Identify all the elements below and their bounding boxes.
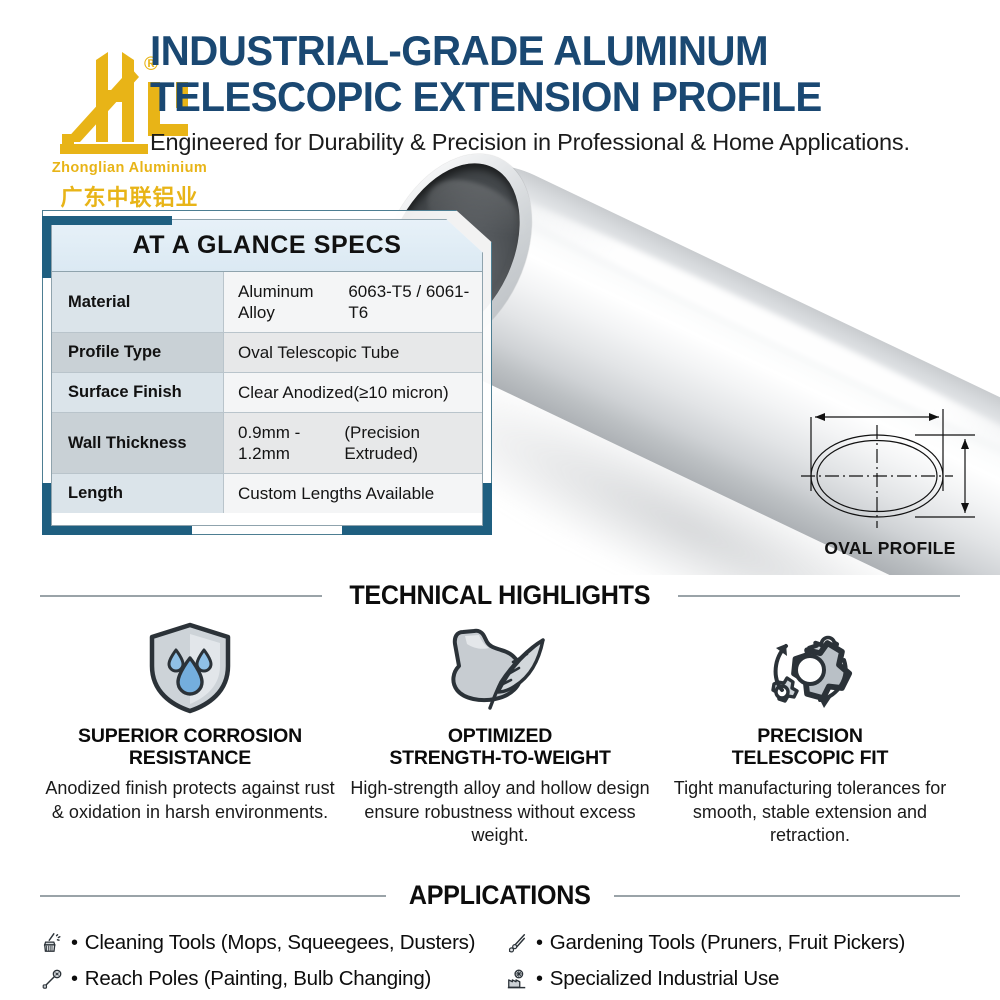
spec-label: Wall Thickness [52,413,224,473]
section-rule-left [40,595,322,597]
oval-profile-caption: OVAL PROFILE [795,538,985,559]
application-item: •Specialized Industrial Use [505,961,970,997]
spec-label: Profile Type [52,333,224,372]
application-item: •Cleaning Tools (Mops, Squeegees, Duster… [40,925,505,961]
spec-label: Material [52,272,224,332]
applications-title: APPLICATIONS [409,880,591,911]
corner-bracket-top-left-bar [42,216,172,225]
corner-bracket-top-left [42,216,64,278]
flexed-bicep-feather-icon [350,620,650,715]
technical-highlights-title: TECHNICAL HIGHLIGHTS [350,580,651,611]
application-label: Cleaning Tools (Mops, Squeegees, Dusters… [85,928,475,958]
spec-label: Length [52,474,224,513]
application-item: •Reach Poles (Painting, Bulb Changing) [40,961,505,997]
highlight-telescopic-fit: PRECISIONTELESCOPIC FIT Tight manufactur… [660,620,960,848]
factory-icon [505,967,529,991]
application-item: •Gardening Tools (Pruners, Fruit Pickers… [505,925,970,961]
highlight-title: SUPERIOR CORROSIONRESISTANCE [40,725,340,769]
spec-value: Custom Lengths Available [224,474,482,513]
shield-water-drop-icon [40,620,340,715]
dim-arrow-left [815,413,825,421]
highlight-title: PRECISIONTELESCOPIC FIT [660,725,960,769]
page-subtitle: Engineered for Durability & Precision in… [150,129,940,156]
spec-value: 0.9mm - 1.2mm(Precision Extruded) [224,413,482,473]
specs-card-inner: AT A GLANCE SPECS MaterialAluminum Alloy… [51,219,483,526]
application-label: Gardening Tools (Pruners, Fruit Pickers) [550,928,905,958]
broom-icon [40,931,64,955]
dim-arrow-bottom [961,503,969,513]
highlight-title: OPTIMIZEDSTRENGTH-TO-WEIGHT [350,725,650,769]
applications-list: •Cleaning Tools (Mops, Squeegees, Duster… [40,925,970,997]
logo-name-cn: 广东中联铝业 [42,180,217,212]
spec-value: Aluminum Alloy6063-T5 / 6061-T6 [224,272,482,332]
applications-header: APPLICATIONS [40,880,960,911]
page-title-line2: TELESCOPIC EXTENSION PROFILE [150,74,908,120]
highlight-desc: Anodized finish protects against rust & … [40,777,340,824]
highlight-desc: Tight manufacturing tolerances for smoot… [660,777,960,848]
corner-bracket-bottom-right-bar [342,526,492,535]
dim-arrow-top [961,439,969,449]
application-label: Specialized Industrial Use [550,964,779,994]
spec-row: Wall Thickness0.9mm - 1.2mm(Precision Ex… [52,413,482,474]
spec-value: Clear Anodized(≥10 micron) [224,373,482,412]
specs-table: MaterialAluminum Alloy6063-T5 / 6061-T6P… [52,272,482,513]
spec-row: Profile TypeOval Telescopic Tube [52,333,482,373]
corner-bracket-bottom-left-bar [42,526,192,535]
spec-value: Oval Telescopic Tube [224,333,482,372]
spec-row: Surface FinishClear Anodized(≥10 micron) [52,373,482,413]
application-label: Reach Poles (Painting, Bulb Changing) [85,964,431,994]
technical-highlights-list: SUPERIOR CORROSIONRESISTANCE Anodized fi… [40,620,960,848]
gears-cycle-icon [660,620,960,715]
dim-arrow-right [929,413,939,421]
technical-highlights-header: TECHNICAL HIGHLIGHTS [40,580,960,611]
highlight-strength-to-weight: OPTIMIZEDSTRENGTH-TO-WEIGHT High-strengt… [350,620,650,848]
logo-name-en: Zhonglian Aluminium [42,160,217,176]
header: ® INDUSTRIAL-GRADE ALUMINUM TELESCOPIC E… [150,28,940,156]
bullet-marker: • [536,964,543,994]
specs-card: AT A GLANCE SPECS MaterialAluminum Alloy… [42,210,492,535]
highlight-corrosion-resistance: SUPERIOR CORROSIONRESISTANCE Anodized fi… [40,620,340,848]
page-title-line1: INDUSTRIAL-GRADE ALUMINUM [150,28,908,74]
spec-row: MaterialAluminum Alloy6063-T5 / 6061-T6 [52,272,482,333]
bullet-marker: • [71,964,78,994]
specs-title: AT A GLANCE SPECS [52,220,482,272]
applications-rule-left [40,895,386,897]
spec-label: Surface Finish [52,373,224,412]
applications-rule-right [614,895,960,897]
highlight-desc: High-strength alloy and hollow design en… [350,777,650,848]
infographic-page: Zhonglian Aluminium 广东中联铝业 ® INDUSTRIAL-… [0,0,1000,1000]
spec-row: LengthCustom Lengths Available [52,474,482,513]
pole-icon [40,967,64,991]
section-rule-right [678,595,960,597]
shears-icon [505,931,529,955]
bullet-marker: • [536,928,543,958]
bullet-marker: • [71,928,78,958]
oval-profile-diagram [795,395,985,560]
